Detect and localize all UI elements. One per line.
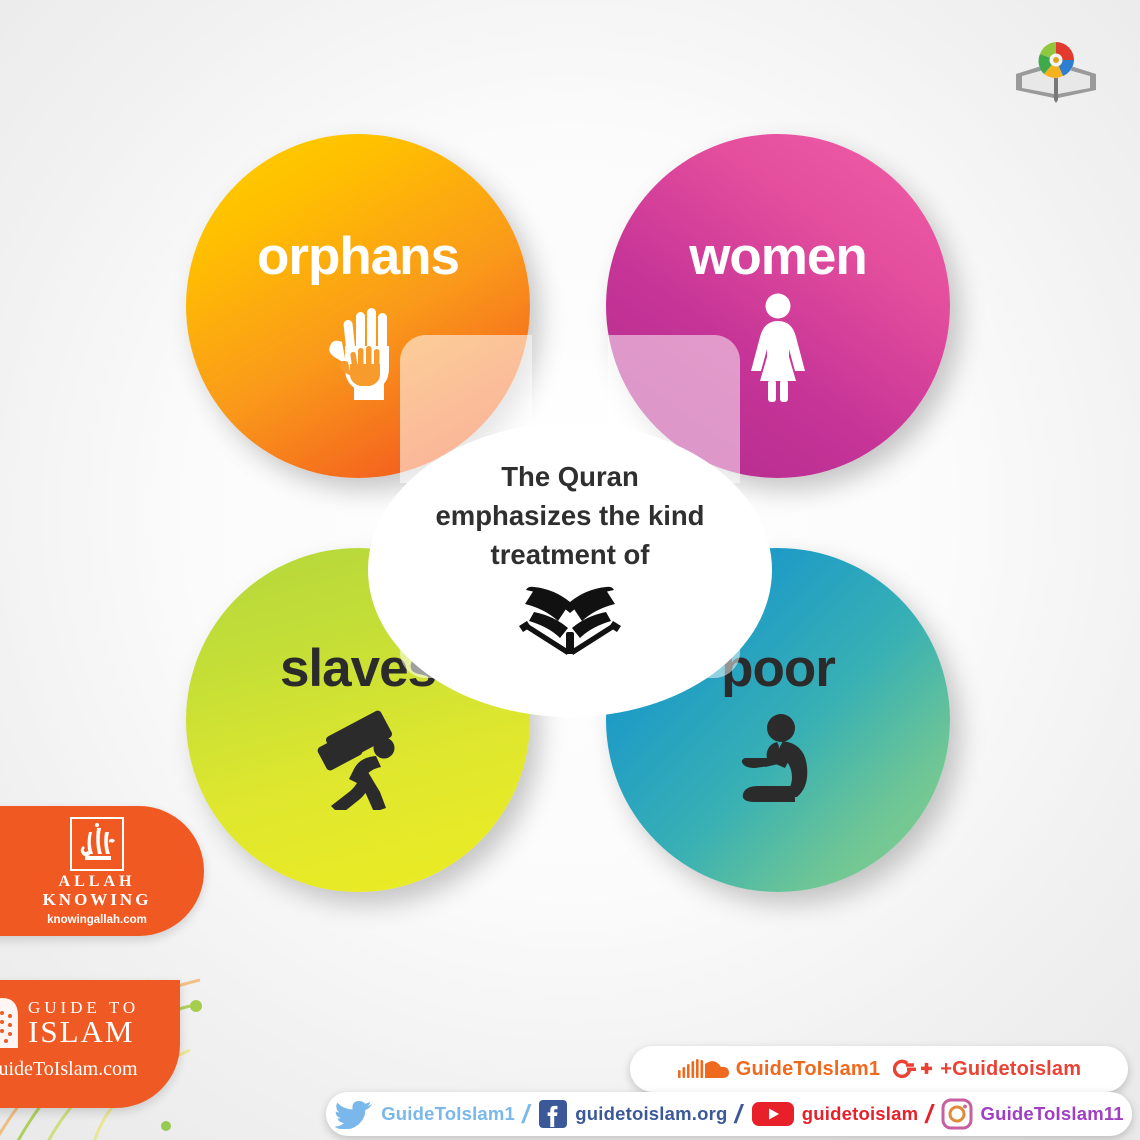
social-handle-google-plus: +Guidetoislam — [940, 1058, 1081, 1081]
social-separator-2: / — [735, 1099, 742, 1130]
knowing-allah-url[interactable]: knowingallah.com — [12, 914, 182, 926]
youtube-icon — [751, 1099, 795, 1129]
social-handle-twitter: GuideToIslam1 — [381, 1103, 515, 1125]
center-line-2: emphasizes the kind — [420, 496, 720, 535]
social-handle-instagram: GuideToIslam11 — [980, 1103, 1123, 1125]
knowing-allah-word-1: ALLAH — [12, 874, 182, 891]
bubble-orphans[interactable]: orphans — [186, 134, 530, 478]
soundcloud-icon — [677, 1056, 729, 1082]
social-link-instagram[interactable]: GuideToIslam11 — [941, 1098, 1123, 1130]
social-link-facebook[interactable]: guidetoislam.org / — [538, 1099, 741, 1130]
social-link-youtube[interactable]: guidetoislam / — [751, 1099, 933, 1130]
guide-to-islam-line-2: ISLAM — [28, 1016, 139, 1047]
person-carrying-load-icon — [186, 708, 530, 810]
social-handle-facebook: guidetoislam.org — [575, 1103, 727, 1125]
social-bar-top: GuideToIslam1 +Guidetoislam — [630, 1046, 1128, 1092]
guide-to-islam-badge[interactable]: GUIDE TO ISLAM GuideToIslam.com — [0, 980, 180, 1108]
facebook-icon — [538, 1099, 568, 1129]
bubble-women[interactable]: women — [606, 134, 950, 478]
bubble-women-label: women — [606, 230, 950, 283]
mihrab-arch-icon — [0, 996, 20, 1050]
bubble-orphans-label: orphans — [186, 230, 530, 283]
woman-figure-icon — [606, 292, 950, 404]
social-bar-bottom: GuideToIslam1 / guidetoislam.org / guide… — [326, 1092, 1132, 1136]
instagram-icon — [941, 1098, 973, 1130]
guide-to-islam-logo — [1008, 34, 1104, 106]
social-link-twitter[interactable]: GuideToIslam1 / — [334, 1099, 529, 1130]
center-line-1: The Quran — [420, 457, 720, 496]
social-separator-1: / — [522, 1099, 529, 1130]
knowing-allah-word-2: KNOWING — [12, 891, 182, 909]
center-statement: The Quran emphasizes the kind treatment … — [368, 423, 772, 717]
social-link-soundcloud[interactable]: GuideToIslam1 — [677, 1056, 881, 1082]
social-separator-3: / — [925, 1099, 932, 1130]
guide-to-islam-url[interactable]: GuideToIslam.com — [0, 1058, 174, 1081]
allah-calligraphy-icon — [69, 816, 125, 872]
helping-hands-icon — [186, 294, 530, 402]
infographic-canvas: orphans — [0, 0, 1140, 1140]
knowing-allah-badge[interactable]: ALLAH KNOWING knowingallah.com — [0, 806, 204, 936]
social-handle-youtube: guidetoislam — [802, 1103, 919, 1125]
open-quran-book-icon — [511, 582, 629, 661]
social-link-google-plus[interactable]: +Guidetoislam — [893, 1055, 1081, 1083]
google-plus-icon — [893, 1055, 933, 1083]
twitter-icon — [334, 1099, 374, 1129]
center-line-3: treatment of — [420, 535, 720, 574]
social-handle-soundcloud: GuideToIslam1 — [736, 1058, 881, 1081]
kneeling-beggar-with-bowl-icon — [606, 708, 950, 804]
